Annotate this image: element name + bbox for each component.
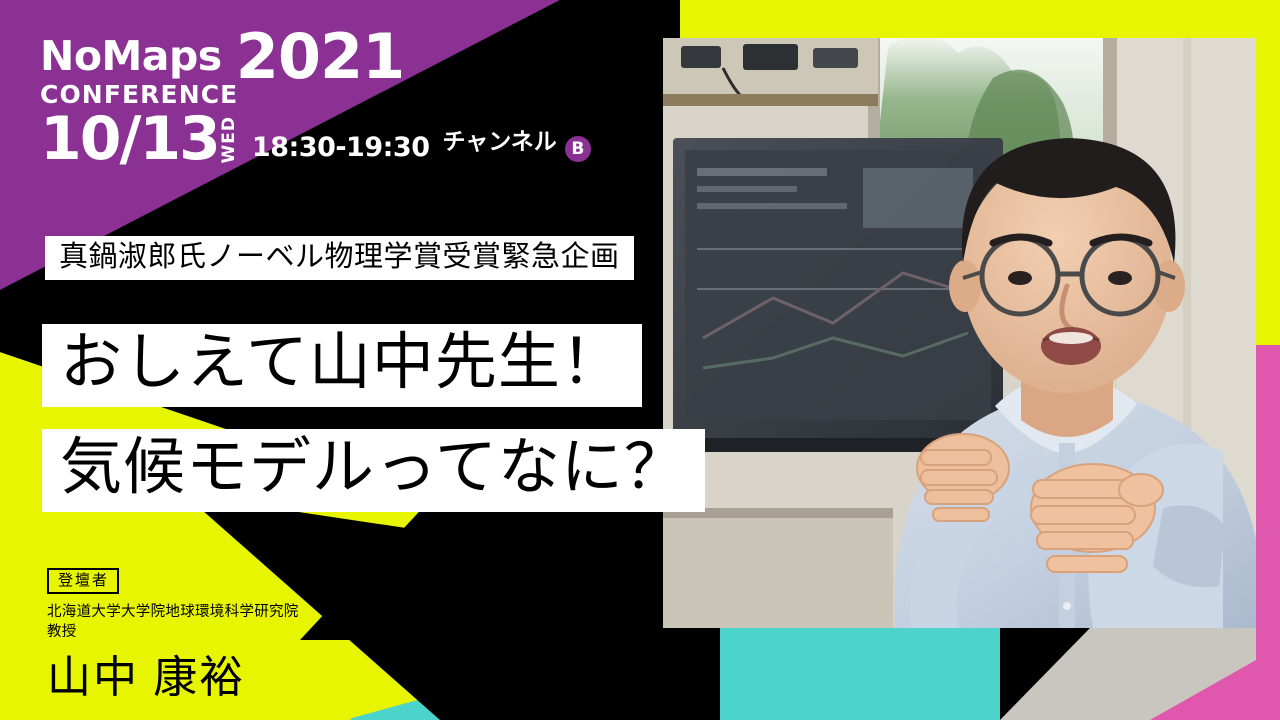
brand-year: 2021	[236, 32, 405, 83]
speaker-photo	[663, 38, 1256, 628]
speaker-tag-wrap: 登壇者	[47, 568, 299, 594]
event-day-of-week: WED	[221, 116, 238, 163]
speaker-affiliation-line-1: 北海道大学大学院地球環境科学研究院	[47, 603, 299, 623]
schedule-bar: 10/13 WED 18:30-19:30 チャンネルB	[40, 112, 591, 167]
speaker-affiliation-line-2: 教授	[47, 623, 299, 643]
headline-line-2: 気候モデルってなに？	[42, 429, 705, 512]
brand-title-row: NoMaps 2021	[40, 26, 404, 77]
headline-kicker: 真鍋淑郎氏ノーベル物理学賞受賞緊急企画	[45, 236, 634, 280]
channel-label: チャンネル	[443, 129, 557, 155]
event-channel: チャンネルB	[443, 122, 591, 162]
speaker-tag: 登壇者	[47, 568, 119, 594]
event-time: 18:30-19:30	[252, 132, 430, 163]
event-date: 10/13	[40, 112, 219, 167]
speaker-affiliation: 北海道大学大学院地球環境科学研究院 教授	[47, 603, 299, 642]
channel-badge: B	[565, 136, 591, 162]
conference-poster: NoMaps 2021 CONFERENCE 10/13 WED 18:30-1…	[0, 0, 1280, 720]
speaker-photo-illustration	[663, 38, 1256, 628]
speaker-block: 登壇者 北海道大学大学院地球環境科学研究院 教授 山中 康裕	[47, 568, 299, 700]
brand-name: NoMaps	[40, 36, 222, 77]
brand-header: NoMaps 2021 CONFERENCE	[40, 26, 404, 107]
speaker-name: 山中 康裕	[47, 656, 299, 700]
headline-line-1: おしえて山中先生！	[42, 324, 642, 407]
